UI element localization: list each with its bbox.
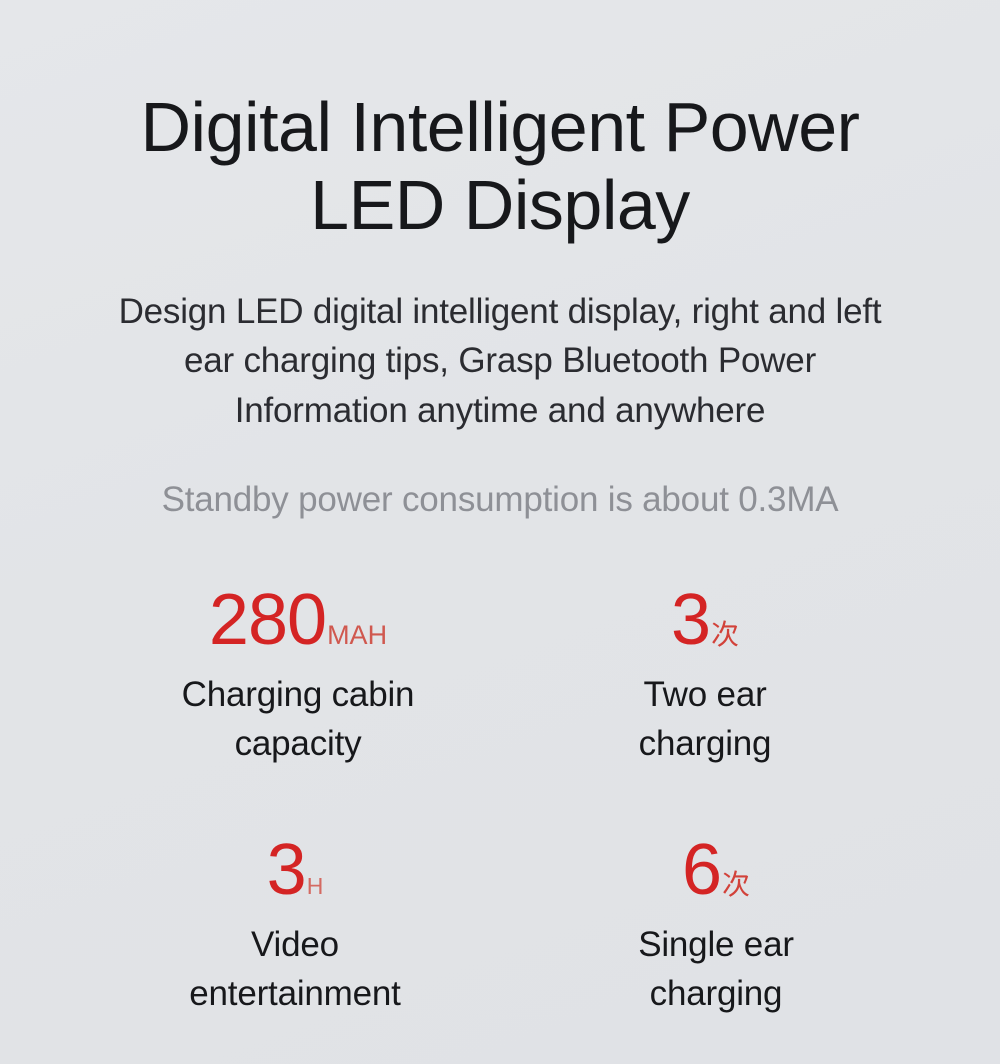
spec-number: 280 xyxy=(209,580,326,660)
spec-unit: H xyxy=(307,873,324,899)
spec-value: 3H xyxy=(90,834,500,906)
description-text: Design LED digital intelligent display, … xyxy=(0,245,1000,436)
spec-item-charging-cabin-capacity: 280MAH Charging cabin capacity xyxy=(90,584,500,768)
spec-label-line-1: Two ear xyxy=(500,670,910,719)
product-feature-page: Digital Intelligent Power LED Display De… xyxy=(0,0,1000,1064)
spec-number: 3 xyxy=(267,830,306,910)
spec-number: 3 xyxy=(671,580,710,660)
spec-label-line-1: Video xyxy=(90,920,500,969)
spec-number: 6 xyxy=(682,830,721,910)
spec-value: 3次 xyxy=(500,584,910,656)
spec-label-line-1: Charging cabin xyxy=(96,670,500,719)
spec-label-line-2: charging xyxy=(522,969,910,1018)
spec-unit: 次 xyxy=(722,869,750,900)
description-line-2: ear charging tips, Grasp Bluetooth Power xyxy=(0,336,1000,386)
page-title-line-2: LED Display xyxy=(0,166,1000,244)
spec-label-line-1: Single ear xyxy=(522,920,910,969)
spec-item-single-ear-charging: 6次 Single ear charging xyxy=(500,834,910,1018)
spec-value: 6次 xyxy=(522,834,910,906)
spec-item-two-ear-charging: 3次 Two ear charging xyxy=(500,584,910,768)
spec-label-line-2: charging xyxy=(500,719,910,768)
spec-label: Single ear charging xyxy=(522,920,910,1018)
spec-label: Two ear charging xyxy=(500,670,910,768)
spec-unit: MAH xyxy=(327,620,387,650)
spec-unit: 次 xyxy=(711,619,739,650)
spec-value: 280MAH xyxy=(96,584,500,656)
description-line-1: Design LED digital intelligent display, … xyxy=(0,287,1000,337)
spec-label: Charging cabin capacity xyxy=(96,670,500,768)
spec-label-line-2: capacity xyxy=(96,719,500,768)
description-line-3: Information anytime and anywhere xyxy=(0,386,1000,436)
specs-grid: 280MAH Charging cabin capacity 3次 Two ea… xyxy=(90,520,910,1018)
spec-item-video-entertainment: 3H Video entertainment xyxy=(90,834,500,1018)
page-title-line-1: Digital Intelligent Power xyxy=(0,88,1000,166)
page-title: Digital Intelligent Power LED Display xyxy=(0,0,1000,245)
spec-label-line-2: entertainment xyxy=(90,969,500,1018)
spec-label: Video entertainment xyxy=(90,920,500,1018)
standby-power-note: Standby power consumption is about 0.3MA xyxy=(0,436,1000,520)
